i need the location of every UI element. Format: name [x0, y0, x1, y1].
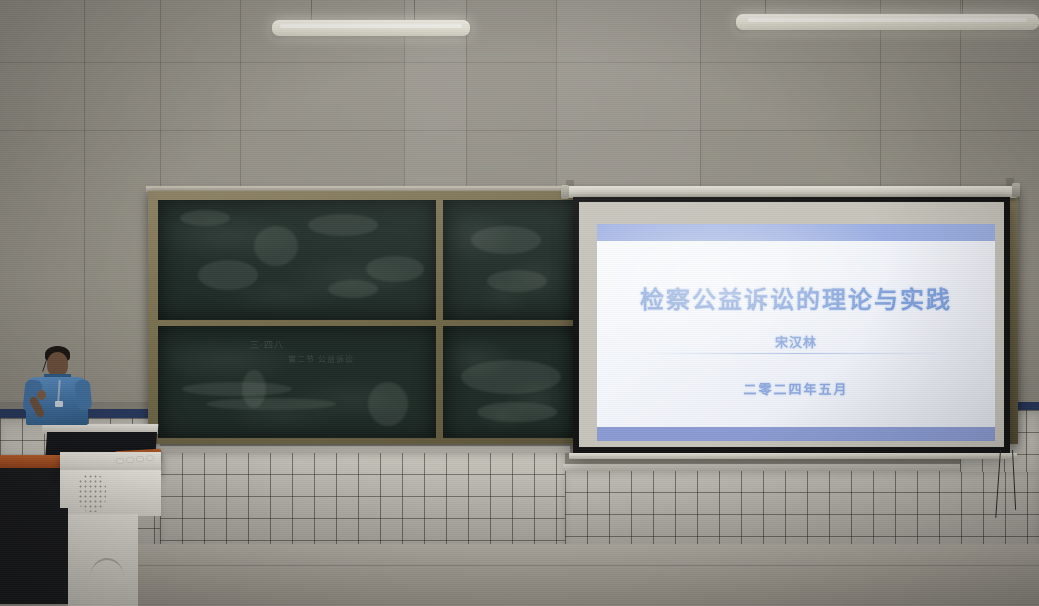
lectern-front-face	[60, 470, 161, 516]
lecture-hall-photo: 三·四八 第二节 公益诉讼 检察公益诉讼的理论与实践 宋汉林 二零二四年五月	[0, 0, 1039, 606]
presentation-slide: 检察公益诉讼的理论与实践 宋汉林 二零二四年五月	[597, 224, 995, 441]
lectern-control-button[interactable]	[117, 459, 123, 463]
speaker-badge	[55, 401, 63, 407]
blackboard-panel-top-right	[443, 200, 577, 320]
screen-case-end-right	[1012, 183, 1020, 197]
blackboard-panel-top-left	[158, 200, 436, 320]
slide-author: 宋汉林	[597, 332, 995, 351]
lamp-wire	[414, 0, 415, 22]
slide-top-band	[597, 224, 995, 241]
wall-seam	[0, 130, 1039, 131]
slide-divider-rule	[643, 353, 949, 354]
ceiling-light-left	[272, 20, 470, 36]
lamp-wire	[311, 0, 312, 22]
lectern-control-button[interactable]	[127, 458, 133, 462]
wall-panel	[556, 0, 700, 190]
wall-seam	[160, 0, 161, 200]
speaker-hand	[37, 390, 46, 400]
blackboard-panel-bottom-left: 三·四八 第二节 公益诉讼	[158, 326, 436, 438]
tile-wall-center	[160, 452, 565, 556]
lectern-control-button[interactable]	[137, 457, 143, 461]
floor	[0, 544, 1039, 606]
slide-title: 检察公益诉讼的理论与实践	[597, 280, 995, 315]
blackboard-chalk-note-2: 第二节 公益诉讼	[288, 354, 354, 365]
ceiling-light-right	[736, 14, 1039, 30]
speaker-sleeve-right	[75, 379, 93, 410]
lectern-base-shadow-left	[0, 508, 68, 604]
slide-bottom-band	[597, 427, 995, 441]
lectern-control-button[interactable]	[147, 456, 153, 460]
floor-line	[0, 565, 1039, 566]
wall-seam	[240, 0, 241, 190]
screen-weight-bar	[569, 453, 1017, 459]
wall-seam	[0, 62, 1039, 63]
blackboard-chalk-note-1: 三·四八	[250, 338, 284, 351]
slide-date: 二零二四年五月	[597, 379, 995, 398]
lectern-speaker-grille	[78, 474, 106, 512]
blackboard-panel-bottom-right	[443, 326, 577, 438]
tile-cap-strip	[158, 446, 570, 453]
lectern-equipment-bay	[0, 468, 62, 508]
screen-case-end-left	[561, 185, 569, 199]
lectern-wood-trim-left	[0, 455, 64, 469]
wall-seam	[700, 0, 701, 190]
